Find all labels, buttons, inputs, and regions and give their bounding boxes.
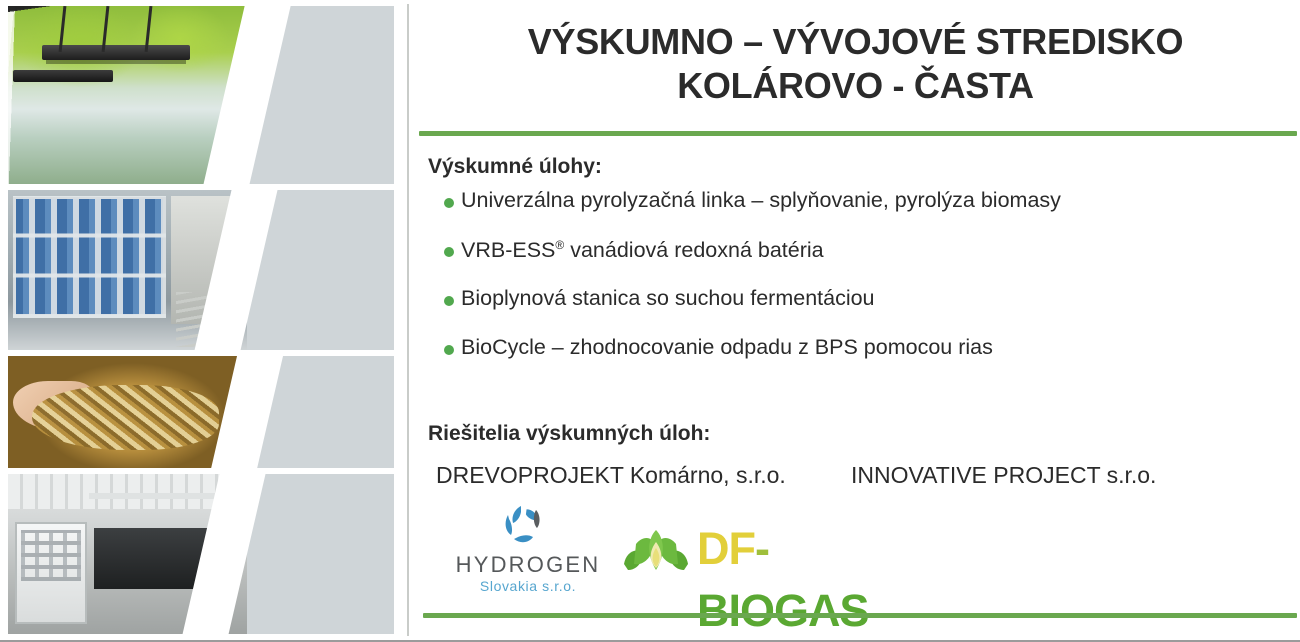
df-biogas-wordmark: DF-BIOGAS [697, 518, 925, 642]
solvers-heading: Riešitelia výskumných úloh: [428, 422, 710, 446]
list-item: BioCycle – zhodnocovanie odpadu z BPS po… [428, 337, 1288, 386]
hand [13, 381, 94, 430]
list-item: VRB-ESS® vanádiová redoxná batéria [428, 239, 1288, 288]
photo-collage [8, 6, 394, 634]
vertical-divider [407, 4, 409, 636]
photo-row-2 [8, 190, 394, 350]
pinwheel-icon [495, 502, 551, 552]
reactor-rig [42, 45, 190, 60]
research-tasks-heading: Výskumné úlohy: [428, 155, 602, 179]
research-tasks-list: Univerzálna pyrolyzačná linka – splyňova… [428, 190, 1288, 386]
wood-chips-in-hands-photo [8, 356, 247, 468]
df-biogas-logo: DF-BIOGAS [615, 520, 925, 590]
title-line-1: VÝSKUMNO – VÝVOJOVÉ STREDISKO [528, 21, 1183, 62]
title-line-2: KOLÁROVO - ČASTA [677, 65, 1034, 106]
hydrogen-subtitle: Slovakia s.r.o. [443, 578, 613, 594]
control-cabinet [15, 522, 87, 624]
divider-top [419, 131, 1297, 136]
photo-row-3 [8, 356, 394, 468]
bullet-dot-icon [444, 345, 454, 355]
hydrogen-slovakia-logo: HYDROGEN Slovakia s.r.o. [443, 502, 613, 602]
cable [101, 6, 109, 52]
slide-root: VÝSKUMNO – VÝVOJOVÉ STREDISKO KOLÁROVO -… [0, 0, 1300, 642]
registered-trademark-icon: ® [555, 238, 564, 252]
content-panel: VÝSKUMNO – VÝVOJOVÉ STREDISKO KOLÁROVO -… [415, 0, 1300, 642]
cable [58, 6, 66, 52]
list-item: Univerzálna pyrolyzačná linka – splyňova… [428, 190, 1288, 239]
df-text: DF [697, 523, 755, 574]
df-dash: - [755, 523, 769, 574]
lotus-icon [620, 524, 692, 580]
battery-stack [13, 196, 166, 318]
list-item-prefix: VRB-ESS [461, 238, 555, 262]
divider-bottom [423, 613, 1297, 618]
solver-company-1: DREVOPROJEKT Komárno, s.r.o. [436, 462, 786, 489]
page-title: VÝSKUMNO – VÝVOJOVÉ STREDISKO KOLÁROVO -… [415, 0, 1300, 108]
list-item: Bioplynová stanica so suchou fermentácio… [428, 288, 1288, 337]
biogas-text: BIOGAS [697, 585, 869, 636]
photo-row-4 [8, 474, 394, 634]
list-item-label: Univerzálna pyrolyzačná linka – splyňova… [461, 188, 1061, 212]
bullet-dot-icon [444, 198, 454, 208]
solver-company-2: INNOVATIVE PROJECT s.r.o. [851, 462, 1156, 489]
reactor-rig-secondary [13, 70, 114, 82]
photo-row-1 [8, 6, 394, 184]
list-item-label: Bioplynová stanica so suchou fermentácio… [461, 286, 875, 310]
partner-logos: HYDROGEN Slovakia s.r.o. DF [415, 500, 1300, 610]
bullet-dot-icon [444, 296, 454, 306]
list-item-suffix: vanádiová redoxná batéria [564, 238, 823, 262]
list-item-label: BioCycle – zhodnocovanie odpadu z BPS po… [461, 335, 993, 359]
cable [144, 6, 152, 52]
bullet-dot-icon [444, 247, 454, 257]
ceiling-frame [89, 493, 218, 499]
hydrogen-wordmark: HYDROGEN [443, 552, 613, 578]
